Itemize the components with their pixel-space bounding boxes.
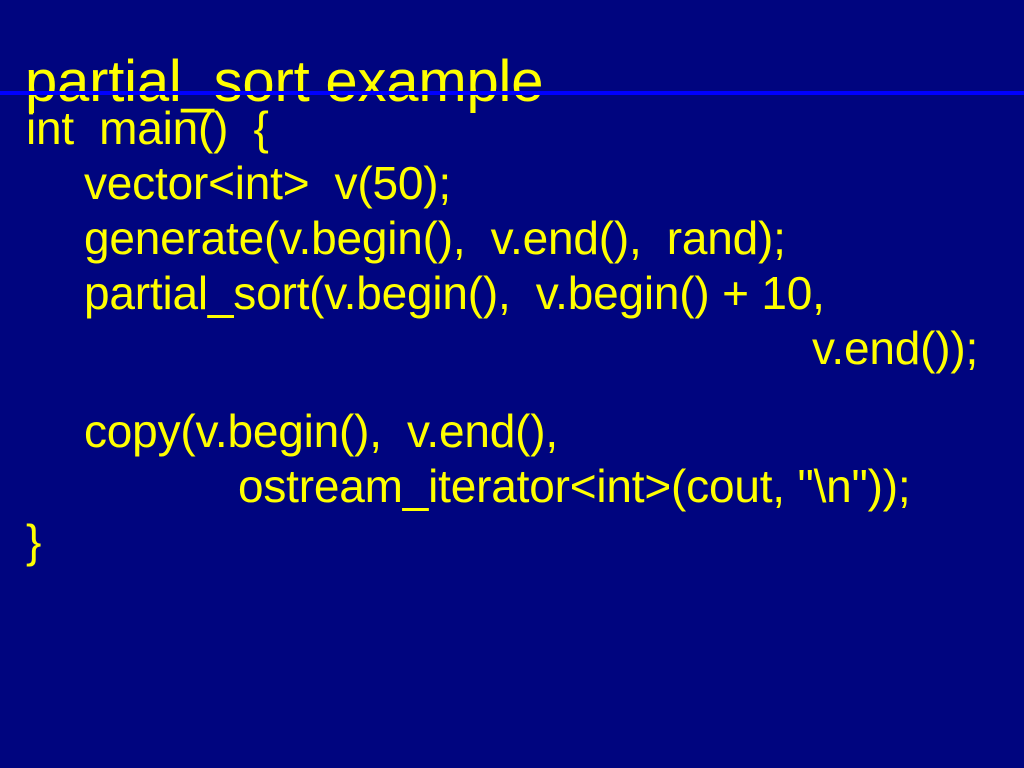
code-line: generate(v.begin(), v.end(), rand); [0, 211, 1024, 266]
code-line: vector<int> v(50); [0, 156, 1024, 211]
code-line: } [0, 514, 1024, 569]
code-line: v.end()); [0, 321, 1024, 376]
slide-canvas: partial_sort example int main() { vector… [0, 0, 1024, 768]
code-line: ostream_iterator<int>(cout, "\n")); [0, 459, 1024, 514]
code-line-blank [0, 376, 1024, 404]
code-line: copy(v.begin(), v.end(), [0, 404, 1024, 459]
code-line: int main() { [0, 101, 1024, 156]
code-block: int main() { vector<int> v(50); generate… [0, 101, 1024, 571]
title-divider-rule [0, 91, 1024, 95]
code-line: partial_sort(v.begin(), v.begin() + 10, [0, 266, 1024, 321]
